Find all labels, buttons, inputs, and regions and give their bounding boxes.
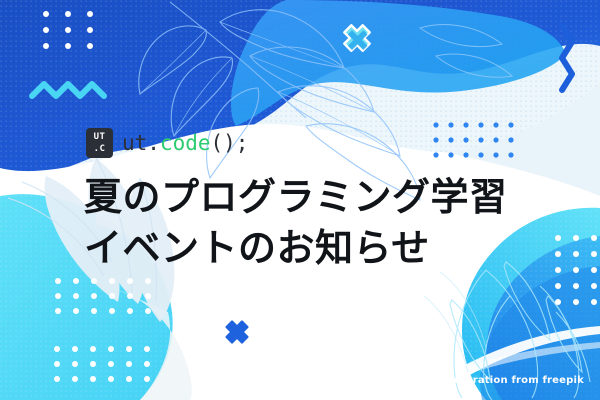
cyan-zigzag [32,84,104,96]
brand-lockup: UT .C ut.code(); [86,128,248,158]
illustration-credit: Illustration from freepik [443,375,584,386]
event-banner: UT .C ut.code(); 夏のプログラミング学習 イベントのお知らせ I… [0,0,600,400]
logo-notch [106,152,111,157]
cross-solid-icon [221,316,252,347]
logo-top-text: UT [86,133,113,142]
utcode-logo-icon: UT .C [86,128,113,158]
cross-outline-icon [339,20,376,57]
brand-wordmark: ut.code(); [122,133,248,154]
headline-line-2: イベントのお知らせ [84,223,508,274]
page-title: 夏のプログラミング学習 イベントのお知らせ [84,172,508,274]
wordmark-suffix: (); [211,131,249,155]
headline-line-1: 夏のプログラミング学習 [84,172,508,223]
wordmark-keyword: code [160,131,211,155]
blue-zigzag-vertical [562,26,572,90]
wordmark-prefix: ut. [122,131,160,155]
